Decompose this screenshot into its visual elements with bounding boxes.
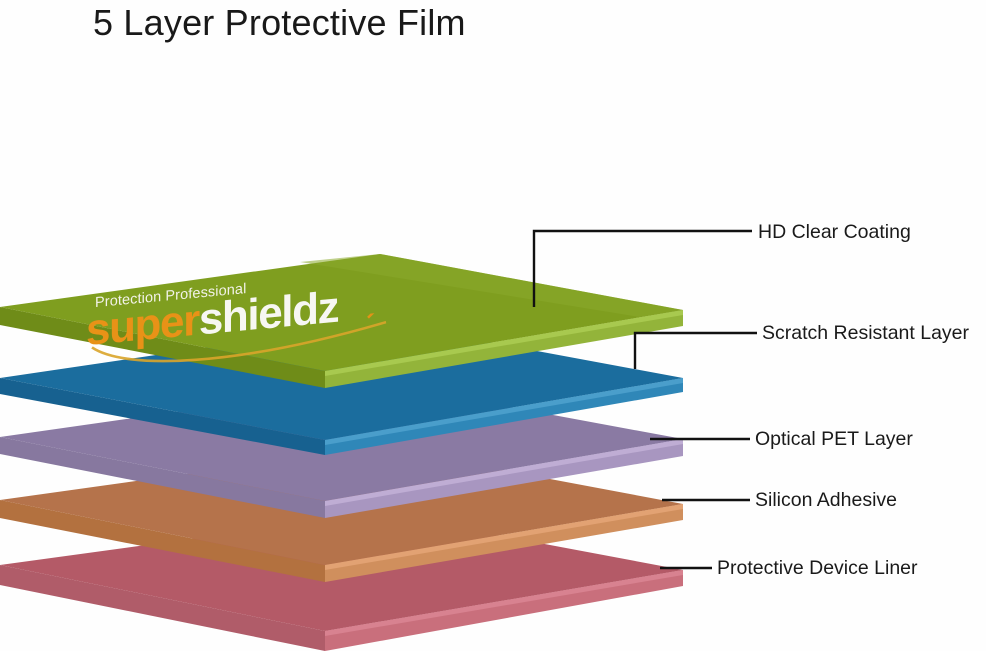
callout-label-protective-device-liner: Protective Device Liner xyxy=(717,557,918,580)
callout-label-silicon-adhesive: Silicon Adhesive xyxy=(755,489,897,512)
layer-1-top-face xyxy=(0,254,683,371)
diagram-canvas: 5 Layer Protective Film xyxy=(0,0,986,651)
leader-line-scratch-resistant xyxy=(635,333,757,369)
callout-label-hd-clear-coating: HD Clear Coating xyxy=(758,221,911,244)
callout-label-scratch-resistant: Scratch Resistant Layer xyxy=(762,322,969,345)
callout-label-optical-pet: Optical PET Layer xyxy=(755,428,913,451)
